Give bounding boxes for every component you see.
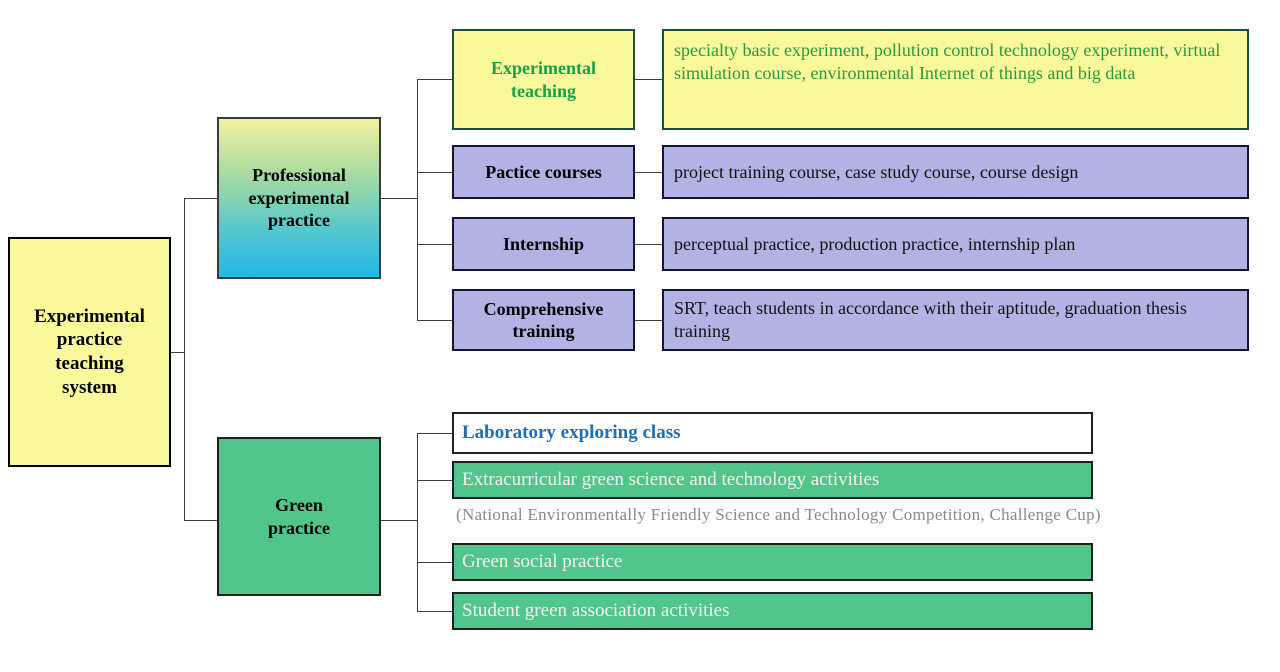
connector-professional-trunk [417, 79, 418, 320]
connector-root-to-green [184, 520, 217, 521]
green-row-student-green-association-activities[interactable]: Student green association activities [452, 592, 1093, 630]
connector-root-to-professional [184, 198, 217, 199]
green-row-green-social-practice[interactable]: Green social practice [452, 543, 1093, 581]
connector-label-to-detail-pactice-courses [635, 172, 662, 173]
leaf-label-comprehensive-training[interactable]: Comprehensive training [452, 289, 635, 351]
green-row-laboratory-exploring-class[interactable]: Laboratory exploring class [452, 412, 1093, 454]
detail-text-internship: perceptual practice, production practice… [674, 233, 1075, 256]
detail-box-experimental-teaching[interactable]: specialty basic experiment, pollution co… [662, 29, 1249, 130]
green-row-text-green-social-practice: Green social practice [462, 550, 622, 574]
connector-label-to-detail-experimental-teaching [635, 79, 662, 80]
connector-label-to-detail-internship [635, 244, 662, 245]
green-row-note-text: (National Environmentally Friendly Scien… [456, 505, 1101, 524]
leaf-label-pactice-courses[interactable]: Pactice courses [452, 145, 635, 199]
connector-professional-to-experimental-teaching [417, 79, 452, 80]
connector-green-to-green-social [417, 562, 452, 563]
detail-text-comprehensive-training: SRT, teach students in accordance with t… [674, 297, 1237, 342]
detail-box-internship[interactable]: perceptual practice, production practice… [662, 217, 1249, 271]
connector-professional-to-comprehensive [417, 320, 452, 321]
green-row-text-extracurricular-activities: Extracurricular green science and techno… [462, 468, 879, 492]
green-row-extracurricular-activities[interactable]: Extracurricular green science and techno… [452, 461, 1093, 499]
branch-node-green-practice[interactable]: Green practice [217, 437, 381, 596]
detail-box-pactice-courses[interactable]: project training course, case study cour… [662, 145, 1249, 199]
leaf-label-text-comprehensive-training: Comprehensive training [484, 298, 604, 343]
connector-root-stub [171, 352, 184, 353]
leaf-label-internship[interactable]: Internship [452, 217, 635, 271]
detail-text-pactice-courses: project training course, case study cour… [674, 161, 1078, 184]
connector-green-to-extracurricular [417, 480, 452, 481]
connector-label-to-detail-comprehensive [635, 320, 662, 321]
root-node-label: Experimental practice teaching system [34, 305, 145, 400]
connector-professional-stub [381, 198, 417, 199]
connector-professional-to-internship [417, 244, 452, 245]
leaf-label-experimental-teaching[interactable]: Experimental teaching [452, 29, 635, 130]
branch-node-label-professional: Professional experimental practice [249, 164, 350, 232]
leaf-label-text-experimental-teaching: Experimental teaching [491, 57, 596, 102]
root-node-experimental-practice-teaching-system[interactable]: Experimental practice teaching system [8, 237, 171, 467]
connector-green-to-student-assoc [417, 611, 452, 612]
connector-professional-to-pactice-courses [417, 172, 452, 173]
leaf-label-text-internship: Internship [503, 233, 584, 256]
detail-box-comprehensive-training[interactable]: SRT, teach students in accordance with t… [662, 289, 1249, 351]
connector-green-to-laboratory [417, 433, 452, 434]
connector-root-trunk [184, 198, 185, 520]
leaf-label-text-pactice-courses: Pactice courses [485, 161, 601, 184]
detail-text-experimental-teaching: specialty basic experiment, pollution co… [674, 39, 1237, 84]
green-row-note-extracurricular: (National Environmentally Friendly Scien… [456, 505, 1256, 525]
connector-green-stub [381, 520, 417, 521]
green-row-text-laboratory-exploring-class: Laboratory exploring class [462, 421, 681, 445]
green-row-text-student-green-association-activities: Student green association activities [462, 599, 730, 623]
branch-node-label-green: Green practice [268, 494, 330, 539]
connector-green-trunk [417, 433, 418, 611]
branch-node-professional-experimental-practice[interactable]: Professional experimental practice [217, 117, 381, 279]
diagram-canvas: Experimental practice teaching system Pr… [0, 0, 1280, 672]
